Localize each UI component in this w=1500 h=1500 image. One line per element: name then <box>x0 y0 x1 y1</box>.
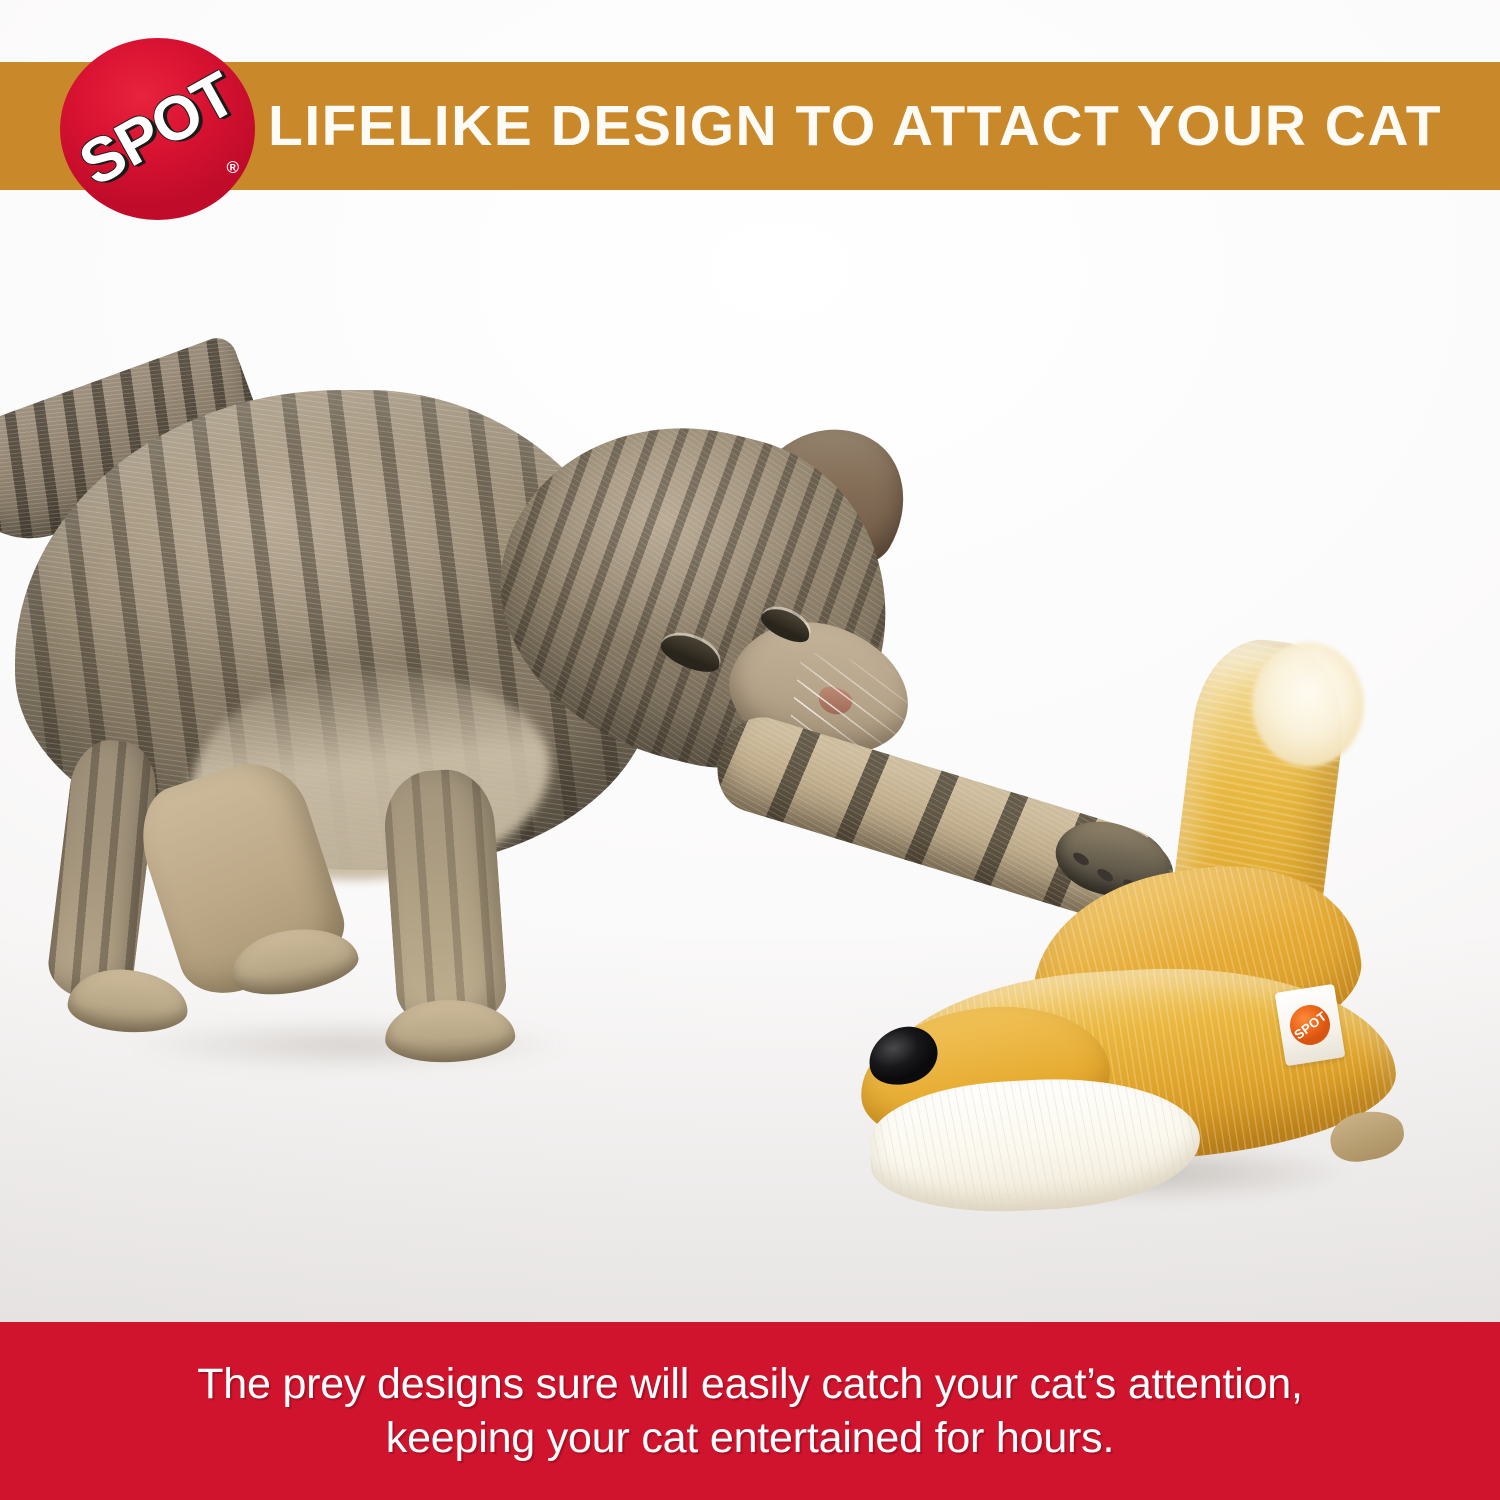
toy-tail-white-tip <box>1252 642 1364 767</box>
bottom-description-banner: The prey designs sure will easily catch … <box>0 1322 1500 1500</box>
headline-text: LIFELIKE DESIGN TO ATTACT YOUR CAT <box>268 98 1442 155</box>
toy-spot-hang-tag: SPOT <box>1275 984 1346 1066</box>
cat-hind-leg-far <box>44 736 161 1005</box>
spot-tag-dot-icon: SPOT <box>1287 1002 1333 1048</box>
description-line-1: The prey designs sure will easily catch … <box>197 1360 1303 1408</box>
toy-tag-wordmark: SPOT <box>1291 1008 1329 1042</box>
product-marketing-image: SPOT LIFELIKE DESIGN TO ATTACT YOUR CAT … <box>0 0 1500 1500</box>
spot-wordmark-text: SPOT <box>68 58 247 200</box>
registered-trademark-icon: ® <box>226 158 239 178</box>
spot-brand-logo: SPOT ® <box>60 38 255 220</box>
plush-fox-toy: SPOT <box>850 640 1430 1200</box>
product-photo: SPOT <box>0 0 1500 1500</box>
description-line-2: keeping your cat entertained for hours. <box>386 1414 1114 1462</box>
cat-front-leg-standing <box>381 766 509 1033</box>
